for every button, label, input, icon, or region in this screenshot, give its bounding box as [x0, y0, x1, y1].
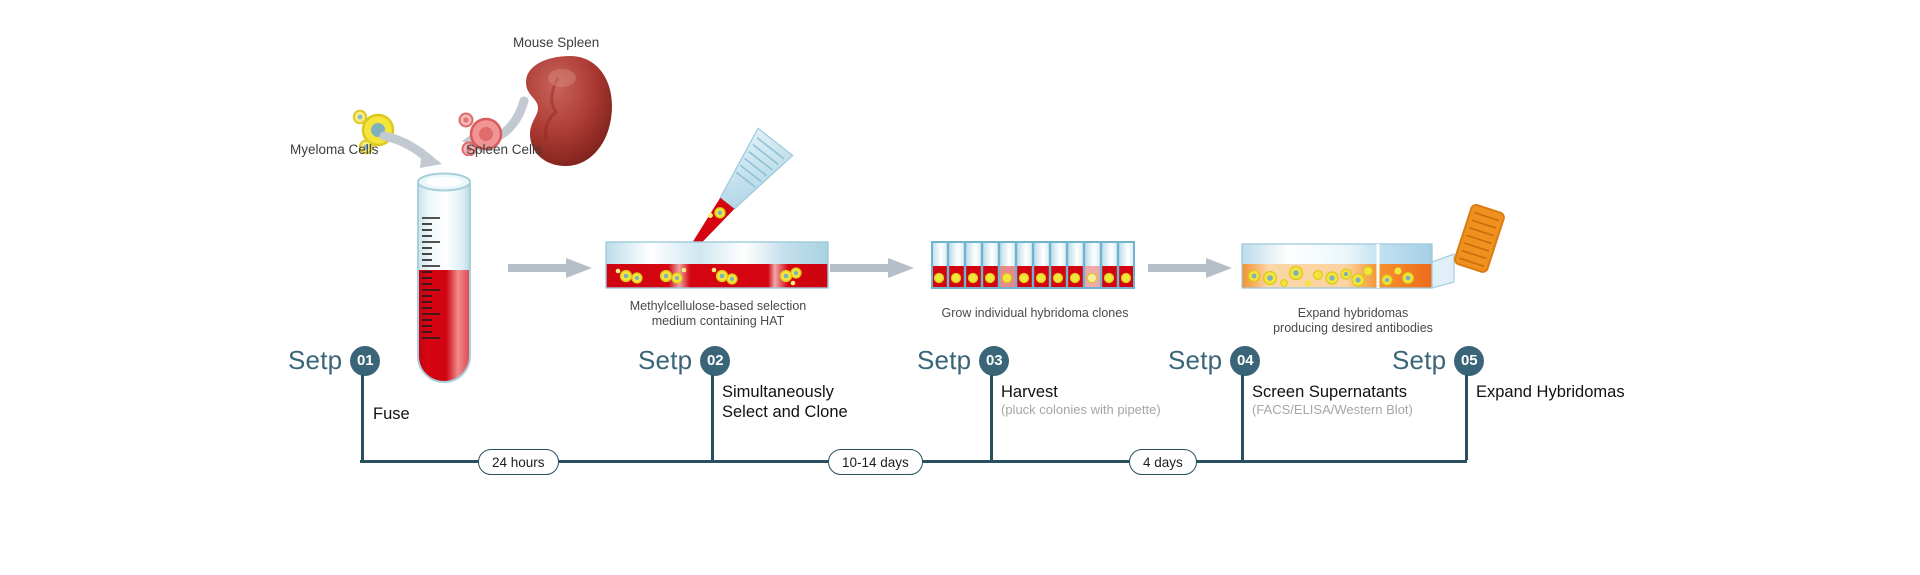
step-badge-04: 04: [1230, 346, 1260, 376]
caption-step5-line1: Expand hybridomas: [1228, 306, 1478, 321]
step-stem-04: [1241, 375, 1244, 460]
step-subtitle-03: (pluck colonies with pipette): [1001, 402, 1161, 418]
step-description-04: Screen Supernatants (FACS/ELISA/Western …: [1252, 382, 1413, 418]
duration-pill-24-hours: 24 hours: [478, 449, 559, 475]
caption-step5: Expand hybridomas producing desired anti…: [1228, 306, 1478, 336]
step-description-03: Harvest (pluck colonies with pipette): [1001, 382, 1161, 418]
duration-pill-4-days: 4 days: [1129, 449, 1197, 475]
step-title-03: Harvest: [1001, 382, 1161, 402]
step-badge-02: 02: [700, 346, 730, 376]
step2-culture-dish: [604, 240, 834, 294]
step-description-01: Fuse: [373, 404, 410, 424]
step-description-02: Simultaneously Select and Clone: [722, 382, 848, 422]
label-spleen-cells: Spleen Cells: [466, 142, 542, 158]
step-marker-02[interactable]: Setp 02: [638, 345, 730, 376]
arrow-myeloma-to-tube: [378, 126, 448, 174]
pipette-tip-rack: [1452, 204, 1510, 276]
step-stem-02: [711, 375, 714, 460]
diagram-canvas: Mouse Spleen Spleen Cells Myeloma Cells: [0, 0, 1920, 575]
arrow-step3-to-step4: [1148, 255, 1234, 281]
step-description-05: Expand Hybridomas: [1476, 382, 1625, 402]
caption-step5-line2: producing desired antibodies: [1228, 321, 1478, 336]
caption-step2-line2: medium containing HAT: [588, 314, 848, 329]
caption-step3: Grow individual hybridoma clones: [900, 306, 1170, 321]
step-stem-05: [1465, 375, 1468, 460]
step-marker-05[interactable]: Setp 05: [1392, 345, 1484, 376]
step-title-02-line2: Select and Clone: [722, 402, 848, 422]
step5-culture-flask: [1240, 240, 1470, 296]
duration-pill-10-14-days: 10-14 days: [828, 449, 923, 475]
step-word-05: Setp: [1392, 345, 1446, 376]
step-stem-01: [361, 375, 364, 460]
step-stem-03: [990, 375, 993, 460]
caption-step2: Methylcellulose-based selection medium c…: [588, 299, 848, 329]
step-badge-01: 01: [350, 346, 380, 376]
step-word-01: Setp: [288, 345, 342, 376]
test-tube-illustration: [396, 168, 508, 400]
step-title-02: Simultaneously: [722, 382, 848, 402]
step-marker-04[interactable]: Setp 04: [1168, 345, 1260, 376]
step-word-02: Setp: [638, 345, 692, 376]
step-marker-01[interactable]: Setp 01: [288, 345, 380, 376]
label-myeloma-cells: Myeloma Cells: [290, 142, 379, 158]
step-subtitle-04: (FACS/ELISA/Western Blot): [1252, 402, 1413, 418]
step-badge-05: 05: [1454, 346, 1484, 376]
step-word-03: Setp: [917, 345, 971, 376]
caption-step2-line1: Methylcellulose-based selection: [588, 299, 848, 314]
arrow-step2-to-step3: [830, 255, 916, 281]
step-marker-03[interactable]: Setp 03: [917, 345, 1009, 376]
step-title-04: Screen Supernatants: [1252, 382, 1413, 402]
step3-multiwell-plate: [930, 240, 1140, 294]
arrow-step1-to-step2: [508, 255, 594, 281]
step-word-04: Setp: [1168, 345, 1222, 376]
label-mouse-spleen: Mouse Spleen: [513, 35, 599, 51]
step-title-05: Expand Hybridomas: [1476, 382, 1625, 402]
step-title-01: Fuse: [373, 404, 410, 424]
step-badge-03: 03: [979, 346, 1009, 376]
